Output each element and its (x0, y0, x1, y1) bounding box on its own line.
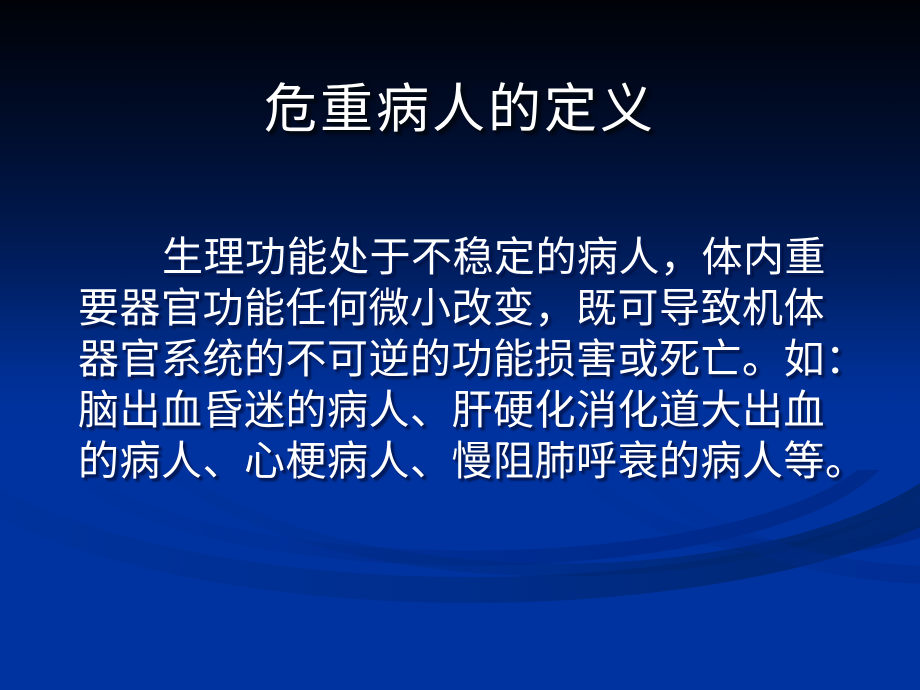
body-line: 的病人、心梗病人、慢阻肺呼衰的病人等。 (78, 436, 853, 487)
slide-body-block: 生理功能处于不稳定的病人，体内重 要器官功能任何微小改变，既可导致机体 器官系统… (78, 232, 853, 487)
slide-title-block: 危重病人的定义 (0, 82, 920, 138)
body-line: 器官系统的不可逆的功能损害或死亡。如： (78, 334, 853, 385)
presentation-slide: 危重病人的定义 生理功能处于不稳定的病人，体内重 要器官功能任何微小改变，既可导… (0, 0, 920, 690)
body-line: 要器官功能任何微小改变，既可导致机体 (78, 283, 853, 334)
body-line: 脑出血昏迷的病人、肝硬化消化道大出血 (78, 385, 853, 436)
body-line: 生理功能处于不稳定的病人，体内重 (78, 232, 853, 283)
page-title: 危重病人的定义 (264, 82, 656, 138)
